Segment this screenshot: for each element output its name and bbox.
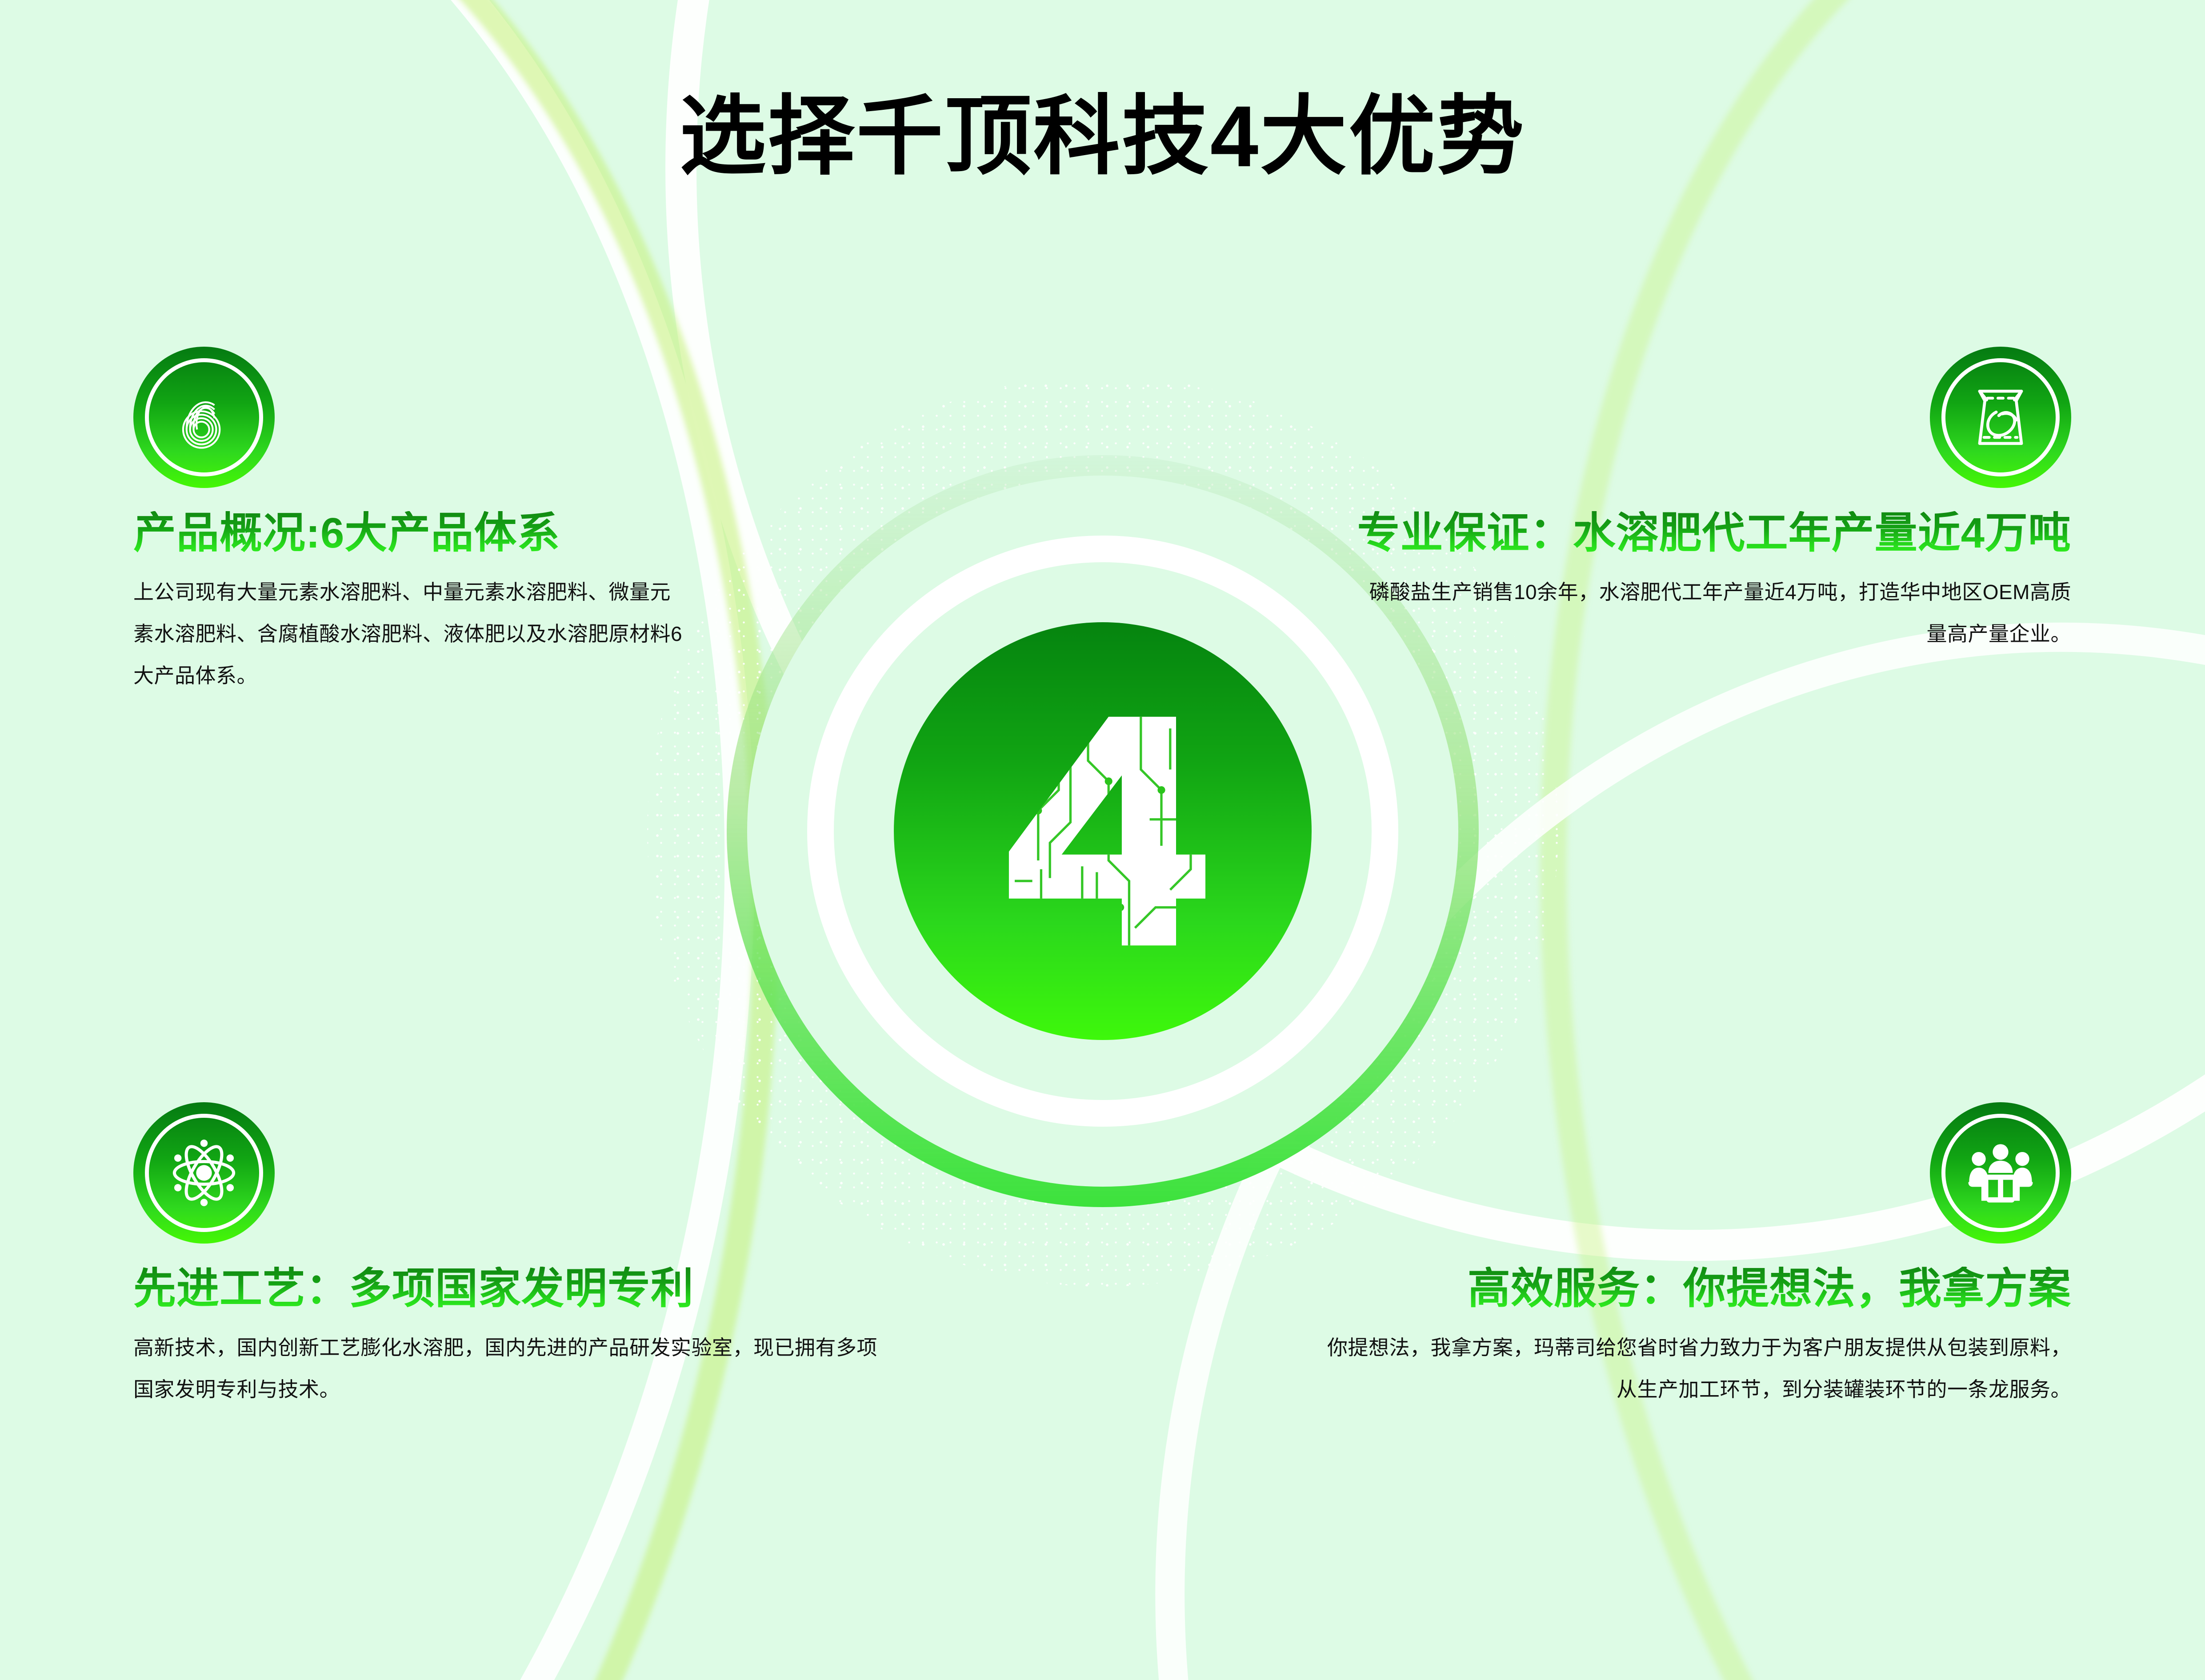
infographic-stage: 选择千顶科技4大优势 <box>0 0 2205 1680</box>
six-arcs-glyph <box>160 374 248 461</box>
atom-glyph <box>160 1129 248 1216</box>
advantage-body: 磷酸盐生产销售10余年，水溶肥代工年产量近4万吨，打造华中地区OEM高质量高产量… <box>1360 571 2071 655</box>
advantage-body: 高新技术，国内创新工艺膨化水溶肥，国内先进的产品研发实验室，现已拥有多项国家发明… <box>133 1327 880 1411</box>
center-number-circle <box>894 622 1312 1040</box>
atom-icon <box>133 1102 275 1244</box>
advantage-heading: 先进工艺：多项国家发明专利 <box>133 1267 898 1312</box>
advantage-heading: 专业保证：水溶肥代工年产量近4万吨 <box>1173 511 2071 556</box>
advantage-card-bottom-left: 先进工艺：多项国家发明专利 高新技术，国内创新工艺膨化水溶肥，国内先进的产品研发… <box>133 1102 898 1410</box>
number-six-circle-icon <box>133 347 275 488</box>
circuit-four-icon <box>956 684 1249 978</box>
advantage-card-top-right: 专业保证：水溶肥代工年产量近4万吨 磷酸盐生产销售10余年，水溶肥代工年产量近4… <box>1173 347 2071 655</box>
advantage-card-bottom-right: 高效服务：你提想法，我拿方案 你提想法，我拿方案，玛蒂司给您省时省力致力于为客户… <box>1307 1102 2071 1410</box>
page-title: 选择千顶科技4大优势 <box>0 93 2205 180</box>
advantage-body: 上公司现有大量元素水溶肥料、中量元素水溶肥料、微量元素水溶肥料、含腐植酸水溶肥料… <box>133 571 689 697</box>
advantage-heading: 高效服务：你提想法，我拿方案 <box>1307 1267 2071 1312</box>
fertilizer-bag-icon <box>1930 347 2071 488</box>
three-people-table-glyph <box>1957 1129 2044 1216</box>
fertilizer-bag-glyph <box>1957 374 2044 461</box>
advantage-body: 你提想法，我拿方案，玛蒂司给您省时省力致力于为客户朋友提供从包装到原料，从生产加… <box>1320 1327 2071 1411</box>
advantage-card-top-left: 产品概况:6大产品体系 上公司现有大量元素水溶肥料、中量元素水溶肥料、微量元素水… <box>133 347 716 697</box>
meeting-people-icon <box>1930 1102 2071 1244</box>
advantage-heading: 产品概况:6大产品体系 <box>133 511 716 556</box>
